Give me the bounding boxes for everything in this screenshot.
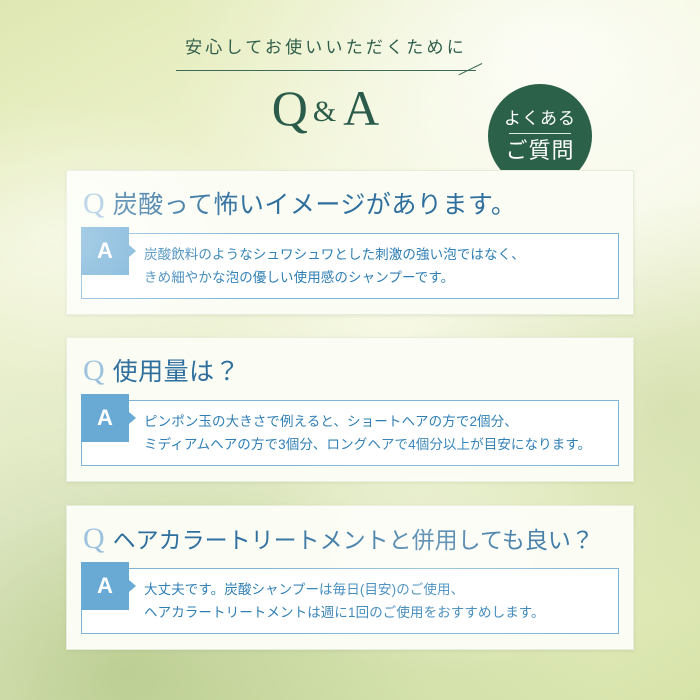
title-letter-a: A	[343, 80, 380, 136]
answer-line: ヘアカラートリートメントは週に1回のご使用をおすすめします。	[144, 601, 606, 624]
header-divider-rule	[176, 64, 476, 78]
question-marker-icon: Q	[83, 524, 105, 554]
question-text: ヘアカラートリートメントと併用しても良い？	[113, 526, 594, 556]
question-row: Q 炭酸って怖いイメージがあります。	[67, 171, 633, 221]
answer-line: 炭酸飲料のようなシュワシュワとした刺激の強い泡ではなく、	[144, 243, 606, 266]
header-center-block: 安心してお使いいただくために Q&A	[156, 36, 496, 140]
answer-box: 炭酸飲料のようなシュワシュワとした刺激の強い泡ではなく、 きめ細やかな泡の優しい…	[81, 233, 619, 299]
answer-wrapper: A ピンポン玉の大きさで例えると、ショートヘアの方で2個分、 ミディアムヘアの方…	[81, 400, 619, 466]
faq-page: 安心してお使いいただくために Q&A よくある ご質問 Q 炭酸って怖いイメージ…	[0, 0, 700, 700]
page-header: 安心してお使いいただくために Q&A よくある ご質問	[0, 36, 700, 148]
answer-line: きめ細やかな泡の優しい使用感のシャンプーです。	[144, 266, 606, 289]
title-ampersand: &	[313, 95, 337, 128]
page-title: Q&A	[156, 80, 496, 140]
bubble-divider	[509, 133, 571, 134]
bubble-bottom-label: ご質問	[488, 138, 592, 164]
question-text: 使用量は？	[113, 358, 241, 388]
question-row: Q ヘアカラートリートメントと併用しても良い？	[67, 506, 633, 556]
question-row: Q 使用量は？	[67, 338, 633, 388]
answer-line: ピンポン玉の大きさで例えると、ショートヘアの方で2個分、	[144, 410, 606, 433]
question-marker-icon: Q	[83, 356, 105, 386]
answer-wrapper: A 大丈夫です。炭酸シャンプーは毎日(目安)のご使用、 ヘアカラートリートメント…	[81, 568, 619, 634]
answer-marker-badge: A	[81, 562, 129, 610]
answer-box: ピンポン玉の大きさで例えると、ショートヘアの方で2個分、 ミディアムヘアの方で3…	[81, 400, 619, 466]
answer-text: 炭酸飲料のようなシュワシュワとした刺激の強い泡ではなく、 きめ細やかな泡の優しい…	[144, 243, 606, 289]
title-letter-q: Q	[272, 80, 309, 136]
faq-card[interactable]: Q 炭酸って怖いイメージがあります。 A 炭酸飲料のようなシュワシュワとした刺激…	[66, 170, 634, 315]
answer-wrapper: A 炭酸飲料のようなシュワシュワとした刺激の強い泡ではなく、 きめ細やかな泡の優…	[81, 233, 619, 299]
answer-text: 大丈夫です。炭酸シャンプーは毎日(目安)のご使用、 ヘアカラートリートメントは週…	[144, 578, 606, 624]
question-marker-icon: Q	[83, 189, 105, 219]
answer-box: 大丈夫です。炭酸シャンプーは毎日(目安)のご使用、 ヘアカラートリートメントは週…	[81, 568, 619, 634]
answer-text: ピンポン玉の大きさで例えると、ショートヘアの方で2個分、 ミディアムヘアの方で3…	[144, 410, 606, 456]
faq-card[interactable]: Q 使用量は？ A ピンポン玉の大きさで例えると、ショートヘアの方で2個分、 ミ…	[66, 337, 634, 482]
answer-line: ミディアムヘアの方で3個分、ロングヘアで4個分以上が目安になります。	[144, 433, 606, 456]
header-subtitle: 安心してお使いいただくために	[156, 36, 496, 60]
question-text: 炭酸って怖いイメージがあります。	[113, 191, 517, 221]
answer-marker-badge: A	[81, 394, 129, 442]
divider-bar	[176, 70, 476, 71]
answer-line: 大丈夫です。炭酸シャンプーは毎日(目安)のご使用、	[144, 578, 606, 601]
faq-card[interactable]: Q ヘアカラートリートメントと併用しても良い？ A 大丈夫です。炭酸シャンプーは…	[66, 505, 634, 650]
bubble-top-label: よくある	[488, 84, 592, 130]
answer-marker-badge: A	[81, 227, 129, 275]
